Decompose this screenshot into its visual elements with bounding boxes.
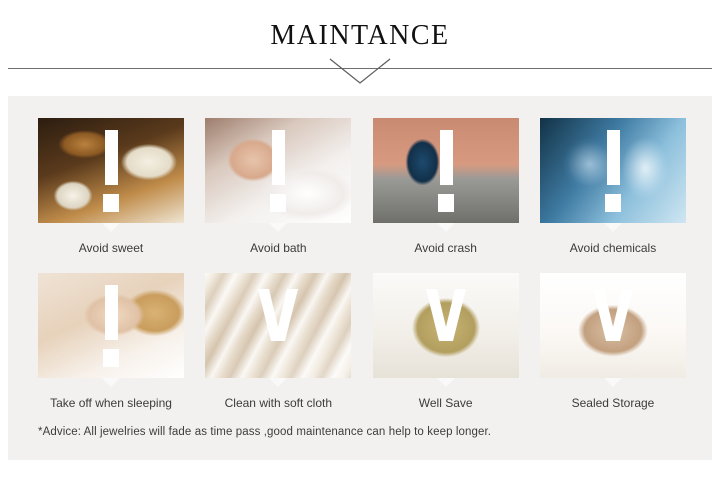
card-thumbnail[interactable]	[205, 118, 351, 223]
card-caption: Take off when sleeping	[38, 396, 184, 410]
chevron-down-icon	[328, 58, 392, 84]
card-thumbnail[interactable]	[38, 273, 184, 378]
maintenance-grid: Avoid sweet Avoid bath	[38, 118, 686, 410]
advice-note: *Advice: All jewelries will fade as time…	[38, 426, 491, 438]
card-thumbnail[interactable]	[373, 118, 519, 223]
maintenance-row-recommended: Take off when sleeping Clean with soft c…	[38, 273, 686, 410]
maintenance-card[interactable]: Take off when sleeping	[38, 273, 184, 410]
maintenance-card[interactable]: Sealed Storage	[540, 273, 686, 410]
card-caption: Avoid chemicals	[540, 241, 686, 255]
page-header: MAINTANCE	[0, 0, 720, 96]
thumbnail-image-open-jewelry-box	[540, 273, 686, 378]
card-thumbnail[interactable]	[38, 118, 184, 223]
maintenance-card[interactable]: Avoid bath	[205, 118, 351, 255]
card-pointer-icon	[437, 223, 455, 232]
thumbnail-image-ring-in-velvet-box	[373, 273, 519, 378]
card-pointer-icon	[102, 378, 120, 387]
card-caption: Sealed Storage	[540, 396, 686, 410]
thumbnail-image-laboratory-glassware	[540, 118, 686, 223]
card-pointer-icon	[437, 378, 455, 387]
maintenance-panel: Avoid sweet Avoid bath	[8, 96, 712, 460]
thumbnail-image-woman-crouching-on-pavement	[373, 118, 519, 223]
thumbnail-image-woman-sleeping	[38, 273, 184, 378]
page-title: MAINTANCE	[0, 20, 720, 52]
maintenance-card[interactable]: Avoid chemicals	[540, 118, 686, 255]
maintenance-row-avoid: Avoid sweet Avoid bath	[38, 118, 686, 255]
maintenance-card[interactable]: Clean with soft cloth	[205, 273, 351, 410]
maintenance-card[interactable]: Avoid sweet	[38, 118, 184, 255]
card-caption: Avoid bath	[205, 241, 351, 255]
card-caption: Clean with soft cloth	[205, 396, 351, 410]
card-thumbnail[interactable]	[205, 273, 351, 378]
maintenance-card[interactable]: Avoid crash	[373, 118, 519, 255]
card-pointer-icon	[269, 378, 287, 387]
card-thumbnail[interactable]	[540, 273, 686, 378]
card-thumbnail[interactable]	[373, 273, 519, 378]
maintenance-card[interactable]: Well Save	[373, 273, 519, 410]
card-caption: Avoid crash	[373, 241, 519, 255]
thumbnail-image-woman-in-bubble-bath	[205, 118, 351, 223]
card-pointer-icon	[102, 223, 120, 232]
card-pointer-icon	[604, 378, 622, 387]
thumbnail-image-teapot-and-pastries	[38, 118, 184, 223]
card-pointer-icon	[604, 223, 622, 232]
card-pointer-icon	[269, 223, 287, 232]
card-thumbnail[interactable]	[540, 118, 686, 223]
thumbnail-image-soft-satin-cloth	[205, 273, 351, 378]
card-caption: Well Save	[373, 396, 519, 410]
card-caption: Avoid sweet	[38, 241, 184, 255]
